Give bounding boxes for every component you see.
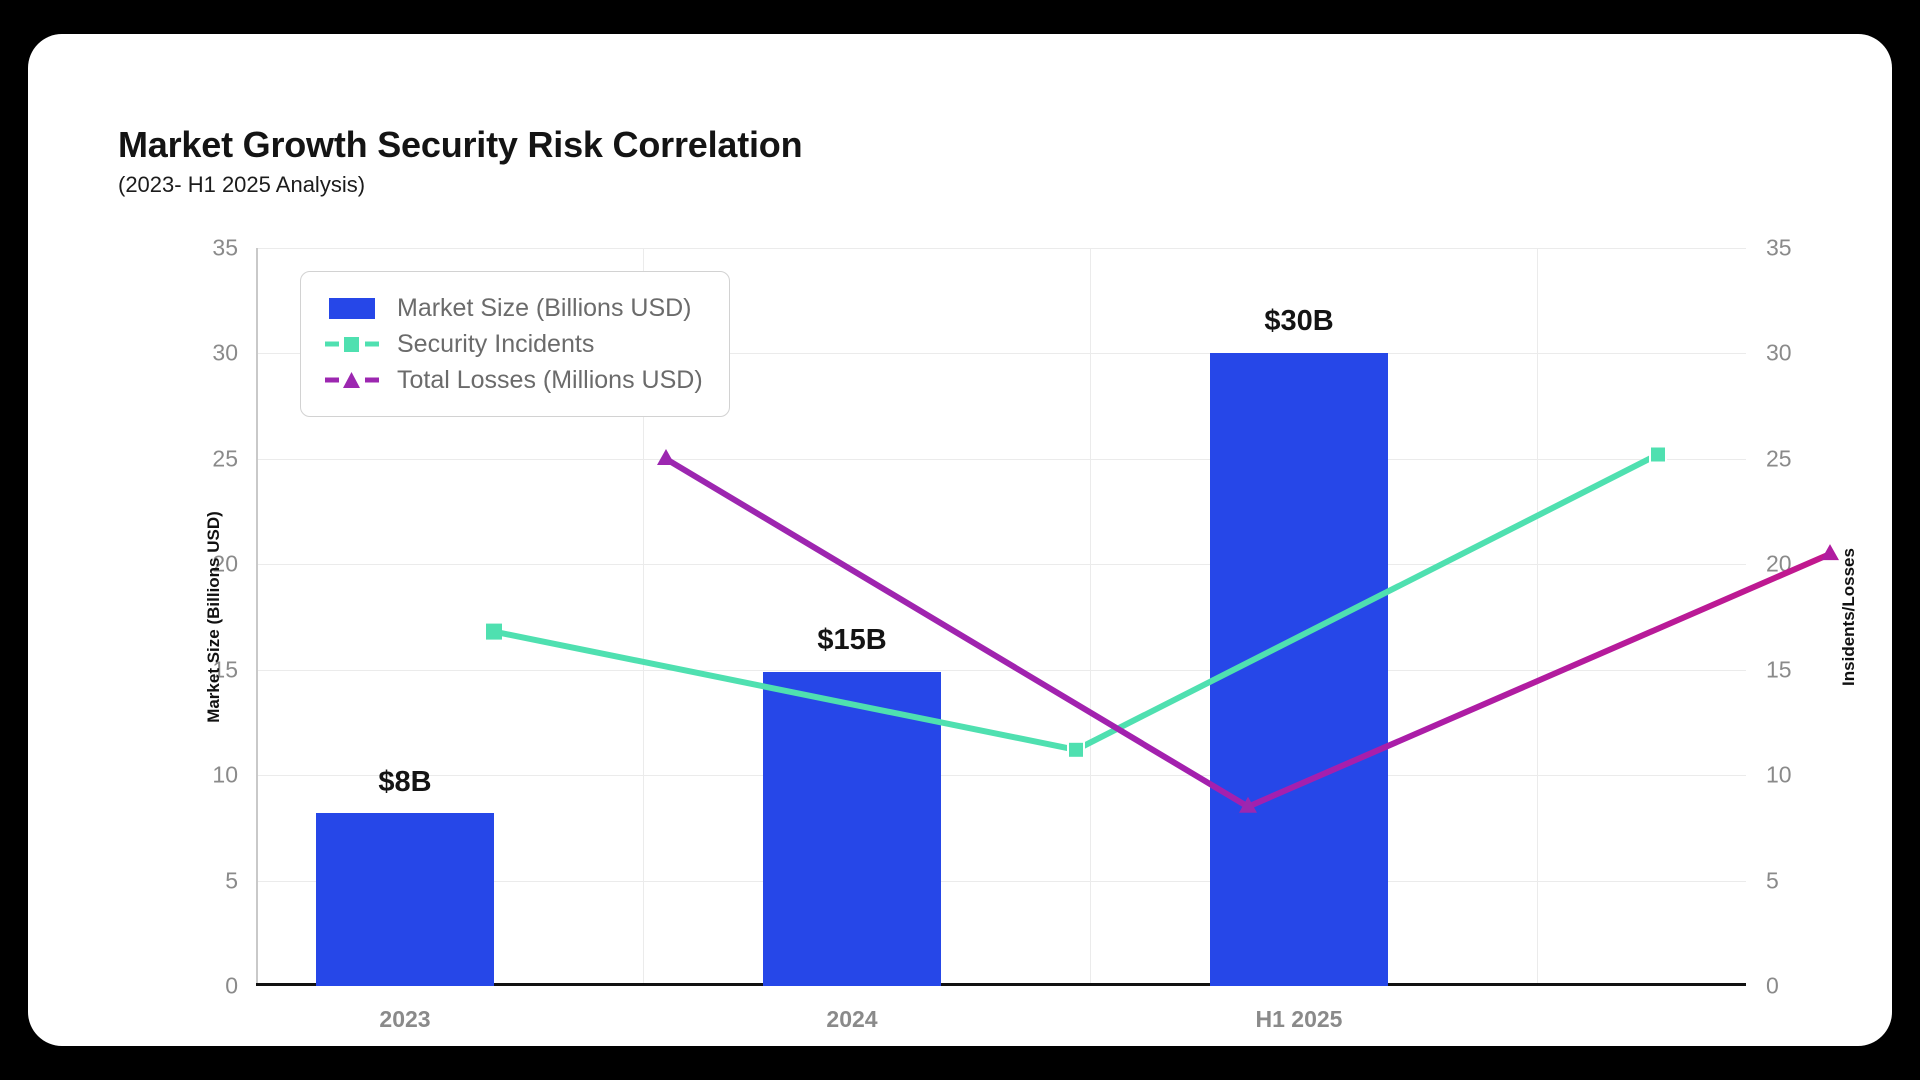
y-tick-right-35: 35	[1766, 235, 1792, 262]
legend-item-security-incidents[interactable]: Security Incidents	[323, 326, 703, 362]
y-tick-right-5: 5	[1766, 867, 1779, 894]
bar-2023[interactable]	[316, 813, 495, 986]
bar-label-2024: $15B	[817, 624, 886, 657]
y-tick-right-0: 0	[1766, 973, 1779, 1000]
bar-2024[interactable]	[763, 672, 942, 986]
y-tick-right-30: 30	[1766, 340, 1792, 367]
x-tick-2024: 2024	[826, 1006, 877, 1033]
gridline-25	[256, 459, 1746, 460]
chart-card: Market Growth Security Risk Correlation …	[28, 34, 1892, 1046]
chart-legend[interactable]: Market Size (Billions USD) Security Inci…	[300, 271, 730, 417]
y-tick-left-0: 0	[225, 973, 238, 1000]
marker-incidents-h1-2025	[1650, 447, 1666, 463]
x-tick-h1-2025: H1 2025	[1256, 1006, 1343, 1033]
y-tick-right-15: 15	[1766, 656, 1792, 683]
marker-incidents-2024	[1068, 742, 1084, 758]
y-tick-left-10: 10	[212, 762, 238, 789]
y-axis-left-title: Market Size (Billions USD)	[204, 511, 224, 723]
gridline-15	[256, 670, 1746, 671]
marker-losses-2023	[657, 449, 675, 465]
gridline-10	[256, 775, 1746, 776]
legend-triangle-marker-icon	[323, 369, 381, 391]
vgridline-3	[1537, 248, 1538, 986]
y-tick-right-10: 10	[1766, 762, 1792, 789]
marker-incidents-2023	[486, 624, 502, 640]
line-security-incidents	[494, 455, 1658, 750]
legend-label-market-size: Market Size (Billions USD)	[397, 294, 692, 323]
legend-bar-swatch-icon	[323, 297, 381, 319]
marker-losses-h1-2025	[1821, 544, 1839, 560]
bar-h1-2025[interactable]	[1210, 353, 1389, 986]
page-subtitle: (2023- H1 2025 Analysis)	[118, 172, 365, 198]
legend-item-total-losses[interactable]: Total Losses (Millions USD)	[323, 362, 703, 398]
legend-label-total-losses: Total Losses (Millions USD)	[397, 366, 703, 395]
y-tick-right-25: 25	[1766, 445, 1792, 472]
y-axis-right-title: Insidents/Losses	[1839, 548, 1859, 686]
y-axis-left-line	[256, 248, 258, 986]
bar-label-2023: $8B	[378, 766, 431, 799]
legend-label-security-incidents: Security Incidents	[397, 330, 594, 359]
y-tick-left-5: 5	[225, 867, 238, 894]
legend-item-market-size[interactable]: Market Size (Billions USD)	[323, 290, 703, 326]
y-tick-right-20: 20	[1766, 551, 1792, 578]
vgridline-2	[1090, 248, 1091, 986]
bar-label-h1-2025: $30B	[1264, 305, 1333, 338]
gridline-20	[256, 564, 1746, 565]
y-tick-left-35: 35	[212, 235, 238, 262]
y-tick-left-30: 30	[212, 340, 238, 367]
page-title: Market Growth Security Risk Correlation	[118, 124, 802, 166]
x-tick-2023: 2023	[379, 1006, 430, 1033]
y-tick-left-25: 25	[212, 445, 238, 472]
plot-area: 35 30 25 20 15 10 5 0 35 30 25 20 15 10 …	[256, 248, 1746, 986]
gridline-35	[256, 248, 1746, 249]
legend-square-marker-icon	[323, 333, 381, 355]
